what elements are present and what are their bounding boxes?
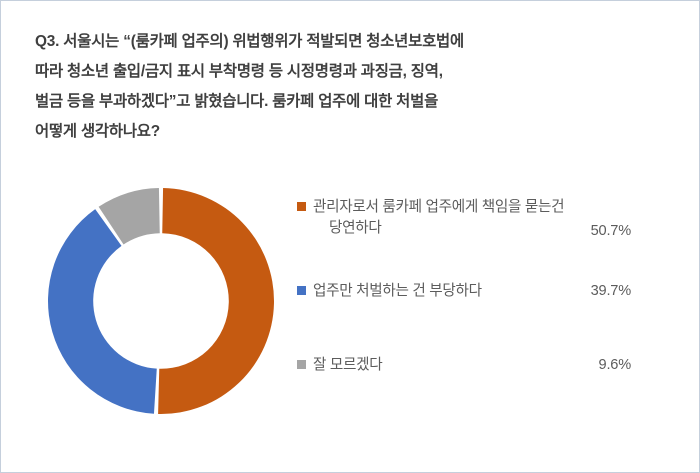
legend-swatch-icon-1 (297, 286, 306, 295)
legend-value-2: 9.6% (599, 355, 631, 376)
legend-value-0: 50.7% (591, 221, 631, 242)
question-line-4: 어떻게 생각하나요? (35, 117, 669, 147)
legend-swatch-icon-0 (297, 202, 306, 211)
legend-label-1: 업주만 처벌하는 건 부당하다 (313, 283, 482, 299)
legend-swatch-icon-2 (297, 360, 306, 369)
donut-slice-1[interactable] (48, 209, 157, 414)
slide-canvas: Q3. 서울시는 “(룸카페 업주의) 위법행위가 적발되면 청소년보호법에 따… (0, 0, 700, 473)
legend-value-1: 39.7% (591, 281, 631, 302)
donut-chart (39, 169, 289, 439)
legend-item-2[interactable]: 잘 모르겠다 9.6% (297, 355, 669, 376)
donut-slice-0[interactable] (158, 188, 274, 414)
legend-label-2: 잘 모르겠다 (313, 357, 382, 373)
question-line-2: 따라 청소년 출입/금지 표시 부착명령 등 시정명령과 과징금, 징역, (35, 57, 669, 87)
legend-label-0: 관리자로서 룸카페 업주에게 책임을 묻는건 (313, 199, 564, 215)
question-line-1: Q3. 서울시는 “(룸카페 업주의) 위법행위가 적발되면 청소년보호법에 (35, 27, 669, 57)
page-title: Q3. 서울시는 “(룸카페 업주의) 위법행위가 적발되면 청소년보호법에 따… (35, 27, 669, 147)
question-line-3: 벌금 등을 부과하겠다”고 밝혔습니다. 룸카페 업주에 대한 처벌을 (35, 87, 669, 117)
legend-item-0[interactable]: 관리자로서 룸카페 업주에게 책임을 묻는건 당연하다 50.7% (297, 197, 669, 239)
legend-item-1[interactable]: 업주만 처벌하는 건 부당하다 39.7% (297, 281, 669, 302)
donut-chart-svg (39, 169, 289, 439)
